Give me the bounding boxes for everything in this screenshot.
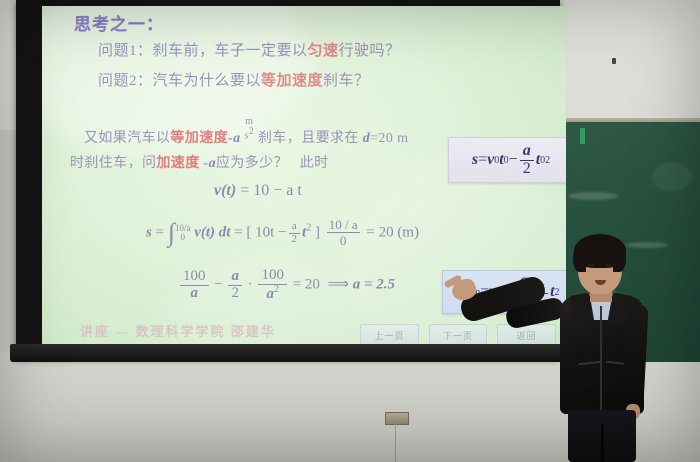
unit-m-per-s2: m s2 (244, 117, 254, 141)
evaluation-limits: 10 / a 0 (327, 218, 360, 249)
body-line-2: 时刹住车，问加速度 -a应为多少？ 此时 (70, 152, 329, 172)
body-line-2-pre: 时刹住车，问 (70, 156, 156, 171)
body-line-2-highlight: 加速度 (156, 156, 199, 171)
solve-term-1: 100 a (180, 269, 209, 302)
question-1-post: 行驶吗？ (339, 43, 401, 59)
integral-eq-2: = (234, 225, 242, 241)
wall-wire (395, 423, 396, 462)
solve-term-1-den: a (180, 286, 209, 302)
slide-nav-buttons: 上一页 下一页 返回 (360, 324, 556, 346)
slide-signature: 讲座 — 数理科学学院 邵建华 (80, 321, 276, 340)
wall-plate (385, 412, 409, 425)
question-2-pre: 汽车为什么要以 (153, 73, 262, 89)
presenter-eyebrow (605, 259, 614, 261)
integral-s: s (146, 225, 152, 241)
solve-term-2-num: a (228, 269, 242, 286)
chalk-smudge (652, 162, 692, 192)
presenter-jacket-zipper (600, 306, 602, 410)
unit-denominator: s2 (244, 127, 254, 141)
box1-frac-num: a (520, 143, 534, 161)
integral-result: 20 (m) (379, 225, 419, 241)
bracket-close: ] (315, 225, 320, 241)
box1-tail-sup: 2 (545, 155, 550, 166)
box1-minus: − (509, 151, 518, 169)
nav-button-prev[interactable]: 上一页 (360, 324, 419, 346)
nav-button-next[interactable]: 下一页 (429, 324, 488, 346)
solve-equals: = 20 (293, 277, 320, 293)
presenter-eyebrow (586, 259, 595, 261)
integral-lower: 0 (175, 233, 191, 242)
solve-term-3-num: 100 (258, 268, 287, 285)
antideriv-t-exp: 2 (306, 223, 311, 234)
antiderivative-fraction: a 2 (289, 221, 301, 245)
question-1-pre: 刹车前，车子一定要以 (153, 43, 308, 59)
solve-term-3-den-exp: 2 (274, 284, 279, 295)
integral-sign: ∫ (168, 225, 175, 241)
solve-term-3-den-base: a (266, 286, 274, 302)
body-line-1-cond-val: =20 m (370, 131, 408, 146)
chalk-smudge (568, 192, 618, 200)
unit-den-exp: 2 (249, 126, 254, 137)
body-line-1-highlight: 等加速度 (170, 131, 228, 146)
velocity-rhs: 10 − a t (253, 182, 302, 199)
solve-term-3: 100 a2 (258, 268, 287, 303)
integrand: v(t) dt (194, 225, 230, 241)
question-1: 问题1：刹车前，车子一定要以匀速行驶吗？ (98, 39, 401, 60)
presenter-leg-split (601, 424, 604, 462)
body-line-2-tail: 此时 (300, 156, 329, 171)
presenter-right-arm (621, 303, 648, 408)
question-2-label: 问题2： (98, 73, 153, 89)
equation-integral: s = ∫ 10/a 0 v(t) dt = [ 10t − a 2 t2 ] (146, 218, 419, 249)
chalk-mark (580, 128, 585, 144)
box1-frac-den: 2 (520, 161, 534, 178)
eval-top: 10 / a (327, 218, 360, 233)
formula-box-displacement: s = v0t0 − a 2 t02 (448, 137, 566, 183)
wall-mark (612, 58, 616, 64)
question-2-highlight: 等加速度 (261, 73, 323, 89)
antiderivative-lead: 10t − (255, 225, 286, 241)
eval-bottom: 0 (327, 233, 360, 248)
lecture-photo-scene: 思考之一： 问题1：刹车前，车子一定要以匀速行驶吗？ 问题2：汽车为什么要以等加… (0, 0, 700, 462)
body-line-1-post: 刹车，且要求在 (258, 131, 359, 146)
question-1-highlight: 匀速 (308, 43, 339, 59)
integral-eq-3: = (366, 225, 374, 241)
presenter-eye (606, 264, 612, 267)
equation-velocity: v(t) = 10 − a t (214, 182, 302, 200)
body-line-1: 又如果汽车以等加速度-a m s2 刹车，且要求在 d=20 m (84, 118, 408, 147)
velocity-lhs: v(t) (214, 182, 236, 199)
solve-term-2: a 2 (228, 269, 242, 302)
presenter-hair-side (573, 246, 586, 272)
box1-eq: = (478, 151, 487, 169)
antideriv-num: a (289, 221, 301, 234)
question-1-label: 问题1： (98, 43, 153, 59)
solve-implies: ⟹ (327, 277, 349, 293)
body-line-1-cond-var: d (363, 131, 370, 146)
solve-dot: · (248, 277, 253, 293)
box1-fraction: a 2 (520, 143, 534, 178)
equation-solve: 100 a − a 2 · 100 a2 = 20 ⟹ a = 2. (178, 268, 395, 303)
presenter-eye (588, 264, 594, 267)
solve-term-1-num: 100 (180, 269, 209, 286)
body-line-1-pre: 又如果汽车以 (84, 131, 170, 146)
velocity-eq-sign: = (240, 182, 249, 199)
question-2-post: 刹车？ (323, 73, 370, 89)
question-2: 问题2：汽车为什么要以等加速度刹车？ (98, 69, 370, 90)
screen-bottom-bar (10, 344, 566, 362)
solve-answer: a = 2.5 (353, 277, 395, 293)
presenter (540, 228, 672, 462)
body-line-2-post: 应为多少？ (216, 156, 288, 171)
presenter-hair-side (613, 246, 626, 272)
solve-term-2-den: 2 (228, 286, 242, 302)
bracket-open: [ (246, 225, 251, 241)
slide-heading: 思考之一： (74, 10, 164, 35)
solve-minus: − (214, 277, 222, 293)
integral-eq-1: = (156, 225, 164, 241)
antideriv-den: 2 (289, 234, 301, 246)
body-line-2-var: -a (204, 156, 216, 171)
body-line-1-var: -a (228, 131, 240, 146)
integral-limits: 10/a 0 (175, 224, 191, 243)
solve-term-3-den: a2 (258, 285, 287, 303)
box1-v: v (487, 151, 494, 169)
